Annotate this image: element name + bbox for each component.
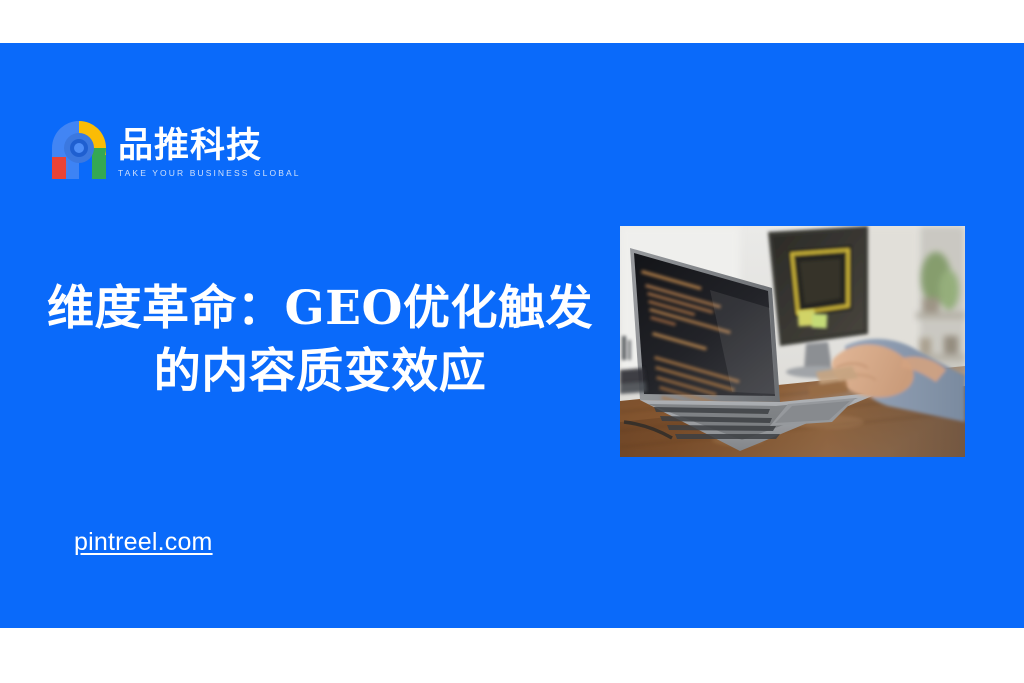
- page-title: 维度革命：GEO优化触发 的内容质变效应: [30, 278, 610, 404]
- brand-name: 品推科技: [118, 128, 301, 165]
- hero-photo: [620, 226, 965, 457]
- slide-canvas: 品推科技 TAKE YOUR BUSINESS GLOBAL 维度革命：GEO优…: [0, 0, 1024, 683]
- brand-tagline: TAKE YOUR BUSINESS GLOBAL: [118, 168, 301, 178]
- pa-monogram-icon: [48, 117, 110, 185]
- page-title-line-1: 维度革命：GEO优化触发: [30, 278, 610, 341]
- website-link[interactable]: pintreel.com: [74, 528, 213, 557]
- brand-text-block: 品推科技 TAKE YOUR BUSINESS GLOBAL: [118, 124, 301, 179]
- brand-lockup[interactable]: 品推科技 TAKE YOUR BUSINESS GLOBAL: [48, 117, 301, 185]
- page-title-line-2: 的内容质变效应: [30, 341, 610, 404]
